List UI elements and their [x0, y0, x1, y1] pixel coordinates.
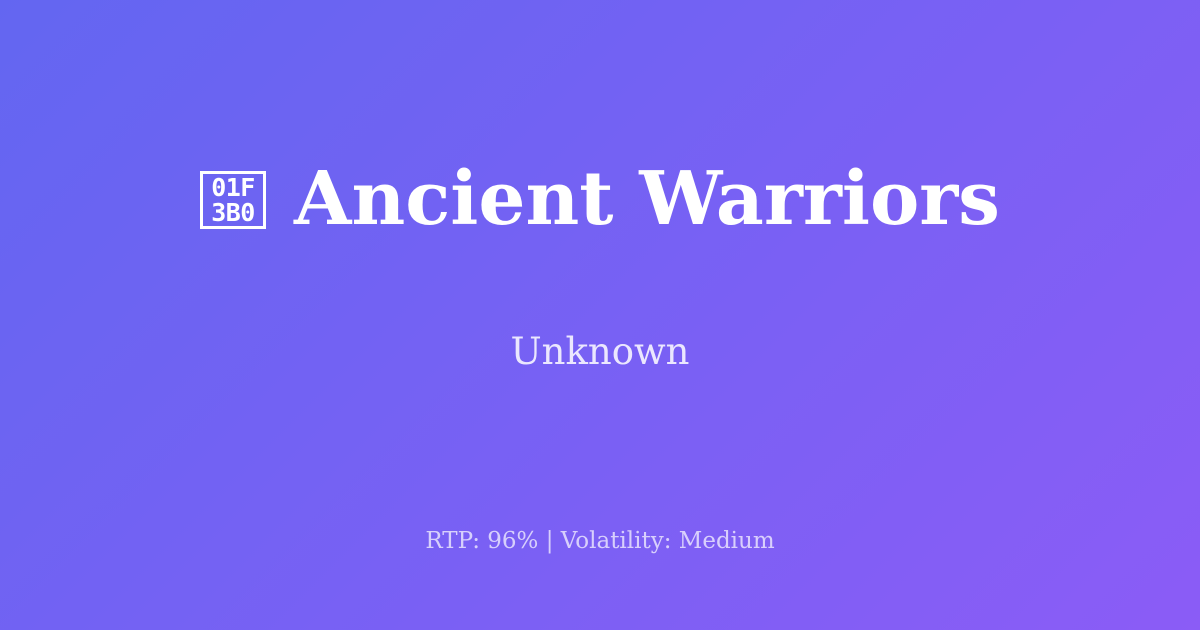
title-block: 01F 3B0 Ancient Warriors Unknown [0, 0, 1200, 500]
tofu-codepoint-row-bottom: 3B0 [211, 200, 255, 225]
page-title: Ancient Warriors [294, 161, 1000, 239]
slot-machine-icon: 01F 3B0 [200, 171, 266, 229]
og-share-card: 01F 3B0 Ancient Warriors Unknown RTP: 96… [0, 0, 1200, 630]
page-subtitle: Unknown [510, 332, 689, 373]
title-row: 01F 3B0 Ancient Warriors [0, 111, 1200, 288]
game-meta-line: RTP: 96% | Volatility: Medium [0, 528, 1200, 556]
tofu-codepoint-row-top: 01F [211, 175, 255, 200]
